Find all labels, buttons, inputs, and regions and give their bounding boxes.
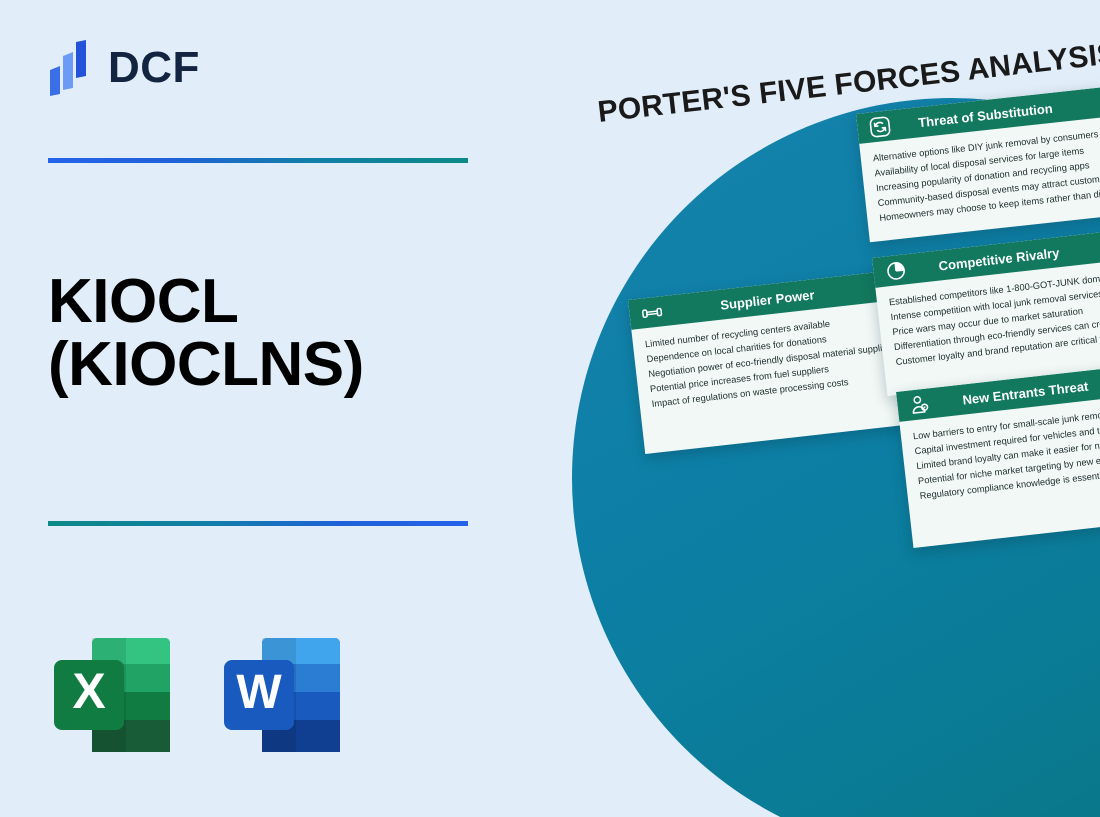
company-name: KIOCL — [48, 270, 518, 333]
excel-file-icon[interactable]: X X — [48, 632, 176, 758]
divider-bottom — [48, 521, 468, 526]
dumbbell-icon — [640, 301, 663, 324]
page-title: KIOCL (KIOCLNS) — [48, 270, 518, 396]
svg-text:X: X — [72, 663, 105, 719]
force-card-competitive-rivalry[interactable]: Competitive Rivalry Established competit… — [872, 231, 1100, 396]
sync-refresh-icon — [868, 115, 891, 138]
download-format-icons: X X W W — [48, 632, 346, 758]
slide-canvas: DCF KIOCL (KIOCLNS) X — [0, 0, 1100, 817]
person-user-icon — [908, 393, 931, 416]
force-card-supplier-power[interactable]: Supplier Power Limited number of recycli… — [628, 270, 914, 454]
svg-text:W: W — [236, 666, 282, 719]
force-card-threat-of-substitution[interactable]: Threat of Substitution Alternative optio… — [856, 87, 1100, 242]
force-card-new-entrants-threat[interactable]: New Entrants Threat Low barriers to entr… — [896, 364, 1100, 548]
word-file-icon[interactable]: W W — [218, 632, 346, 758]
divider-top — [48, 158, 468, 163]
company-ticker: (KIOCLNS) — [48, 333, 518, 396]
bar-chart-logo-icon — [48, 40, 94, 96]
pie-chart-icon — [884, 259, 907, 282]
brand-logo[interactable]: DCF — [48, 40, 200, 96]
brand-logo-text: DCF — [108, 46, 200, 90]
